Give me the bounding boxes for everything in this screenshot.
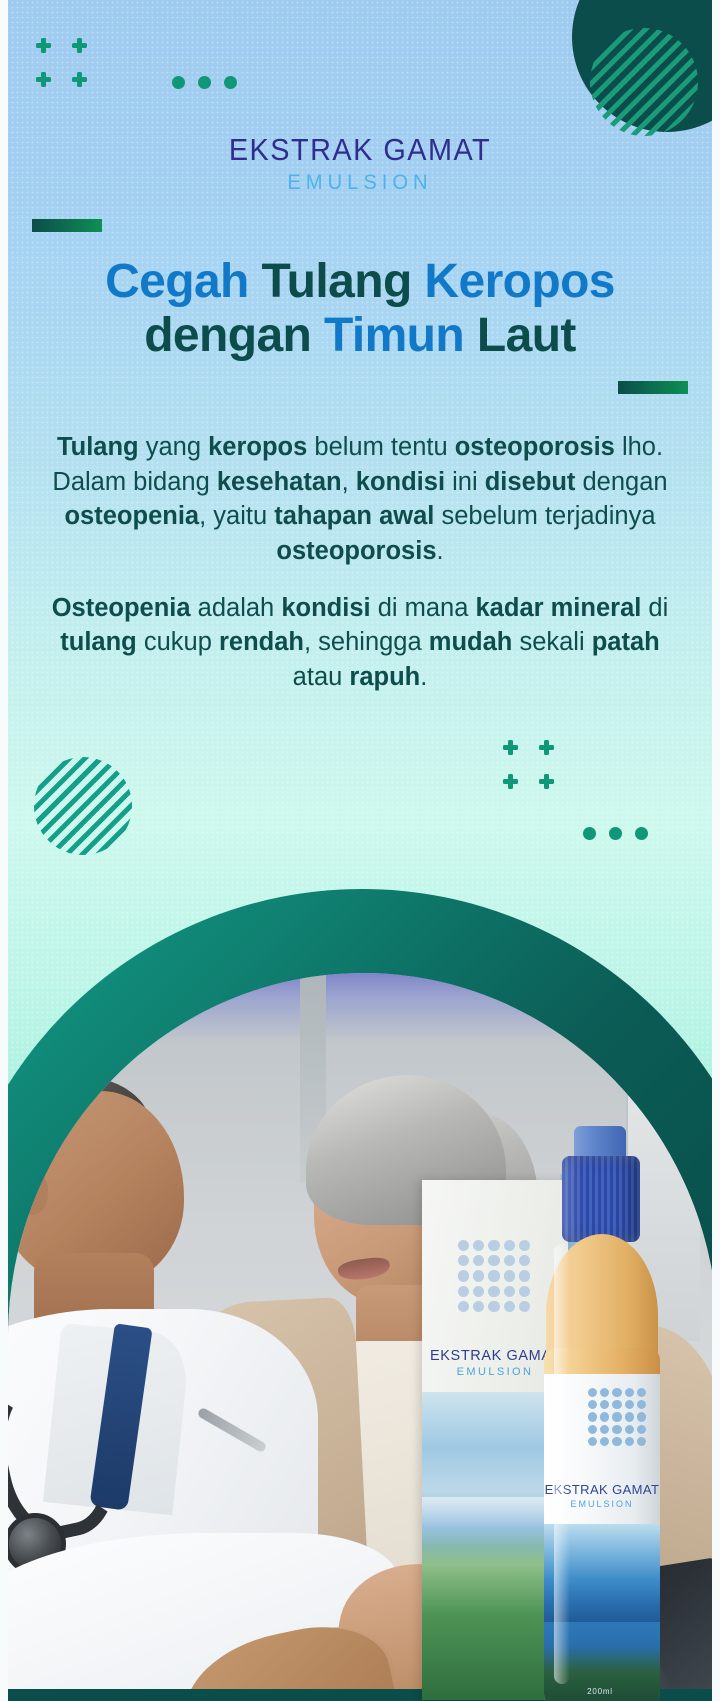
grid-dot xyxy=(519,1301,530,1312)
accent-bar-right xyxy=(618,381,688,394)
grid-dot xyxy=(637,1437,646,1446)
body-text: . xyxy=(420,663,427,691)
plus-icon xyxy=(36,38,51,53)
emphasis-text: osteopenia xyxy=(64,502,199,530)
plus-icon xyxy=(72,72,87,87)
grid-dot xyxy=(600,1412,609,1421)
bottle-label-dot-grid xyxy=(588,1388,646,1446)
grid-dot xyxy=(612,1425,621,1434)
page-title: Cegah Tulang Keropos dengan Timun Laut xyxy=(0,255,720,363)
grid-dot xyxy=(519,1240,530,1251)
grid-dot xyxy=(612,1400,621,1409)
striped-circle-decoration-top xyxy=(590,28,698,136)
grid-dot xyxy=(625,1425,634,1434)
grid-dot xyxy=(600,1388,609,1397)
dot-icon xyxy=(172,76,185,89)
grid-dot xyxy=(637,1412,646,1421)
grid-dot xyxy=(600,1437,609,1446)
grid-dot xyxy=(504,1255,515,1266)
right-edge-trim xyxy=(712,0,720,1701)
body-text: , yaitu xyxy=(199,502,274,530)
grid-dot xyxy=(600,1400,609,1409)
headline-word-dengan: dengan xyxy=(144,309,324,362)
dot-icon xyxy=(198,76,211,89)
body-text: adalah xyxy=(198,594,282,622)
grid-dot xyxy=(588,1412,597,1421)
headline-line-2: dengan Timun Laut xyxy=(0,309,720,363)
emphasis-text: osteoporosis xyxy=(455,433,622,461)
headline-word-timun: Timun xyxy=(324,309,477,362)
dot-icon xyxy=(224,76,237,89)
grid-dot xyxy=(488,1270,499,1281)
dot-icon xyxy=(583,827,596,840)
emphasis-text: kadar mineral xyxy=(476,594,649,622)
emphasis-text: mudah xyxy=(429,628,520,656)
emphasis-text: Tulang xyxy=(57,433,146,461)
grid-dot xyxy=(612,1437,621,1446)
emphasis-text: tahapan awal xyxy=(274,502,441,530)
body-text: sekali xyxy=(519,628,591,656)
body-text: cukup xyxy=(144,628,219,656)
body-text: , xyxy=(342,468,356,496)
product-box-dot-grid xyxy=(458,1240,530,1312)
headline-word-keropos: Keropos xyxy=(424,255,615,308)
emphasis-text: keropos xyxy=(208,433,314,461)
striped-circle-decoration-lower xyxy=(34,757,132,855)
dot-trio-decoration-top xyxy=(172,76,237,89)
grid-dot xyxy=(588,1425,597,1434)
headline-line-1: Cegah Tulang Keropos xyxy=(0,255,720,309)
poster-root: EKSTRAK GAMAT EMULSION Cegah Tulang Kero… xyxy=(0,0,720,1701)
grid-dot xyxy=(473,1286,484,1297)
grid-dot xyxy=(637,1388,646,1397)
body-text: di mana xyxy=(378,594,476,622)
emphasis-text: kondisi xyxy=(281,594,377,622)
grid-dot xyxy=(588,1400,597,1409)
cross-decoration-group-mid xyxy=(503,740,563,796)
emphasis-text: osteoporosis xyxy=(276,537,436,565)
grid-dot xyxy=(625,1400,634,1409)
grid-dot xyxy=(504,1301,515,1312)
plus-icon xyxy=(503,740,518,755)
bottle-cap xyxy=(562,1156,640,1242)
body-text: belum tentu xyxy=(314,433,454,461)
headline-word-tulang: Tulang xyxy=(262,255,425,308)
body-copy: Tulang yang keropos belum tentu osteopor… xyxy=(40,430,680,695)
body-text: ini xyxy=(452,468,485,496)
plus-icon xyxy=(539,774,554,789)
emphasis-text: Osteopenia xyxy=(52,594,198,622)
headline-word-cegah: Cegah xyxy=(105,255,261,308)
grid-dot xyxy=(488,1240,499,1251)
grid-dot xyxy=(458,1240,469,1251)
paragraph-2: Osteopenia adalah kondisi di mana kadar … xyxy=(40,591,680,695)
body-text: di xyxy=(648,594,668,622)
grid-dot xyxy=(637,1425,646,1434)
grid-dot xyxy=(625,1437,634,1446)
grid-dot xyxy=(473,1270,484,1281)
grid-dot xyxy=(612,1388,621,1397)
grid-dot xyxy=(504,1240,515,1251)
emphasis-text: kesehatan xyxy=(217,468,342,496)
body-text: . xyxy=(437,537,444,565)
grid-dot xyxy=(600,1425,609,1434)
dot-trio-decoration-mid xyxy=(583,827,648,840)
grid-dot xyxy=(473,1301,484,1312)
left-edge-trim xyxy=(0,0,8,1701)
emphasis-text: rapuh xyxy=(349,663,420,691)
grid-dot xyxy=(458,1255,469,1266)
grid-dot xyxy=(488,1286,499,1297)
plus-icon xyxy=(539,740,554,755)
bottle-volume-text: 200ml xyxy=(540,1687,660,1696)
emphasis-text: patah xyxy=(592,628,660,656)
emphasis-text: tulang xyxy=(60,628,144,656)
emphasis-text: disebut xyxy=(485,468,583,496)
grid-dot xyxy=(519,1270,530,1281)
accent-bar-left xyxy=(32,219,102,232)
plus-icon xyxy=(503,774,518,789)
grid-dot xyxy=(488,1255,499,1266)
body-text: , sehingga xyxy=(304,628,429,656)
body-text: sebelum terjadinya xyxy=(441,502,655,530)
grid-dot xyxy=(504,1286,515,1297)
grid-dot xyxy=(519,1255,530,1266)
grid-dot xyxy=(637,1400,646,1409)
headline-word-laut: Laut xyxy=(477,309,576,362)
brand-subtitle: EMULSION xyxy=(14,171,705,195)
plus-icon xyxy=(72,38,87,53)
dot-icon xyxy=(609,827,622,840)
grid-dot xyxy=(519,1286,530,1297)
body-text: atau xyxy=(293,663,350,691)
doctor-ear xyxy=(14,1171,48,1215)
grid-dot xyxy=(473,1240,484,1251)
plus-icon xyxy=(36,72,51,87)
grid-dot xyxy=(612,1412,621,1421)
grid-dot xyxy=(588,1437,597,1446)
brand-name: EKSTRAK GAMAT xyxy=(25,132,695,168)
grid-dot xyxy=(458,1270,469,1281)
emphasis-text: rendah xyxy=(219,628,304,656)
brand-logo: EKSTRAK GAMAT EMULSION xyxy=(0,132,720,195)
grid-dot xyxy=(458,1286,469,1297)
grid-dot xyxy=(588,1388,597,1397)
grid-dot xyxy=(625,1388,634,1397)
grid-dot xyxy=(473,1255,484,1266)
body-text: dengan xyxy=(583,468,668,496)
product-bottle: EKSTRAK GAMAT EMULSION 200ml xyxy=(540,1126,660,1701)
body-text: yang xyxy=(146,433,208,461)
cross-decoration-group-top xyxy=(36,38,96,94)
emphasis-text: kondisi xyxy=(356,468,452,496)
grid-dot xyxy=(504,1270,515,1281)
grid-dot xyxy=(458,1301,469,1312)
paragraph-1: Tulang yang keropos belum tentu osteopor… xyxy=(40,430,680,569)
bottle-gloss-highlight xyxy=(554,1244,570,1684)
dot-icon xyxy=(635,827,648,840)
grid-dot xyxy=(625,1412,634,1421)
grid-dot xyxy=(488,1301,499,1312)
